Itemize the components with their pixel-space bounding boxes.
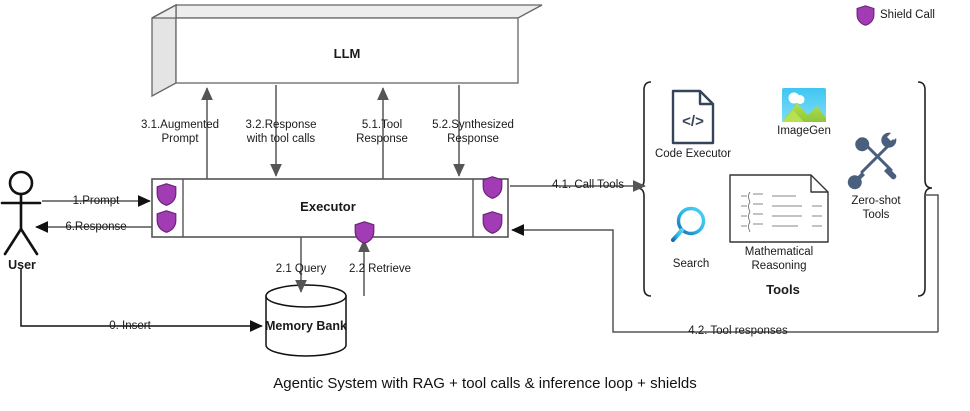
edge-label-retrieve: 2.2 Retrieve <box>332 262 428 276</box>
user-label: User <box>0 258 44 272</box>
shield-icon-call-tools <box>483 177 502 198</box>
edge-label-call-tools: 4.1. Call Tools <box>541 178 635 192</box>
tool-label-imagegen: ImageGen <box>764 124 844 138</box>
image-icon[interactable] <box>782 88 826 122</box>
edge-label-augmented-prompt: 3.1.Augmented Prompt <box>141 118 219 146</box>
shield-icon-tool-responses <box>483 212 502 233</box>
tool-label-zero-shot-tools: Zero-shot Tools <box>838 194 914 222</box>
shield-icon-legend <box>857 6 874 25</box>
shield-icon-response <box>157 211 176 232</box>
svg-text:</>: </> <box>682 113 704 130</box>
edge-label-response: 6.Response <box>46 220 146 234</box>
shield-icon-retrieve <box>355 222 374 243</box>
memory-bank-label: Memory Bank <box>246 319 366 333</box>
edge-tool-responses <box>512 230 938 332</box>
edge-insert <box>21 268 262 326</box>
magnifier-icon[interactable] <box>673 209 704 241</box>
edge-label-synthesized-response: 5.2.Synthesized Response <box>424 118 522 146</box>
diagram-caption: Agentic System with RAG + tool calls & i… <box>0 375 970 392</box>
tools-group-label: Tools <box>738 283 828 297</box>
crossed-tools-icon[interactable] <box>848 133 897 190</box>
code-document-icon[interactable]: </> <box>673 91 713 143</box>
diagram-canvas: </> <box>0 0 970 411</box>
shield-icon-prompt <box>157 184 176 205</box>
edge-label-prompt: 1.Prompt <box>52 194 140 208</box>
edge-tool-responses-riser <box>925 195 938 332</box>
edge-label-response-tool-calls: 3.2.Response with tool calls <box>234 118 328 146</box>
math-document-icon[interactable] <box>730 175 828 242</box>
tool-label-code-executor: Code Executor <box>645 147 741 161</box>
llm-label: LLM <box>176 47 518 61</box>
executor-label: Executor <box>183 200 473 214</box>
edge-label-tool-responses: 4.2. Tool responses <box>664 324 812 338</box>
tool-label-mathematical-reasoning: Mathematical Reasoning <box>734 245 824 273</box>
user-actor[interactable] <box>2 172 40 254</box>
edge-label-tool-response: 5.1.Tool Response <box>344 118 420 146</box>
edge-label-insert: 0. Insert <box>84 319 176 333</box>
tool-label-search: Search <box>655 257 727 271</box>
legend-shield-label: Shield Call <box>880 8 970 22</box>
